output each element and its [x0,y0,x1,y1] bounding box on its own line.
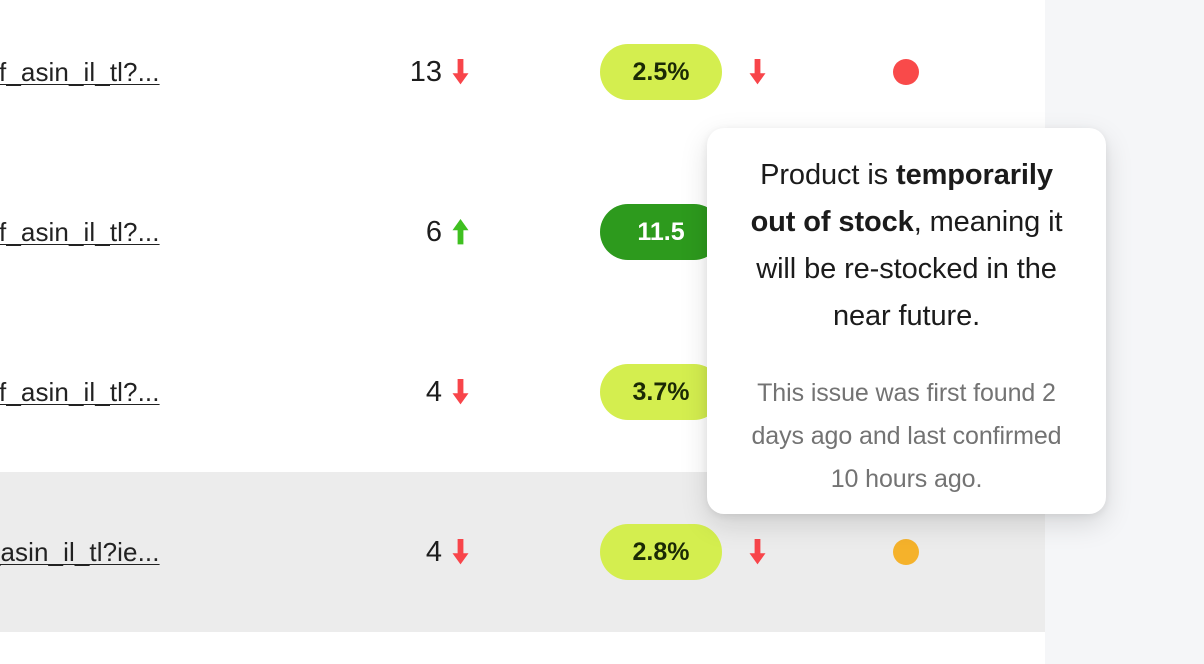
product-link[interactable]: qf_asin_il_tl?ie... [0,537,160,568]
percentage-badge: 11.5 [600,204,722,260]
tooltip-secondary-text: This issue was first found 2 days ago an… [739,372,1074,501]
arrow-down-icon [451,379,470,405]
product-name-cell: i_qf_asin_il_tl?... [0,152,324,312]
count-value: 13 [410,58,442,87]
status-dot-orange-icon[interactable] [893,539,919,565]
status-dot-red-icon[interactable] [893,59,919,85]
count-value: 6 [426,218,442,247]
percentage-badge: 2.8% [600,524,722,580]
arrow-down-icon [748,59,767,85]
product-name-cell: i_qf_asin_il_tl?... [0,0,324,152]
product-name-cell: qf_asin_il_tl?ie... [0,472,324,632]
arrow-down-icon [748,539,767,565]
product-link[interactable]: i_qf_asin_il_tl?... [0,377,160,408]
percentage-badge: 2.5% [600,44,722,100]
arrow-down-icon [451,539,470,565]
count-value: 4 [426,538,442,567]
tooltip-primary-text: Product is temporarily out of stock, mea… [739,152,1074,340]
product-name-cell: i_qf_asin_il_tl?... [0,312,324,472]
count-cell: 4 [360,472,500,632]
arrow-up-icon [451,219,470,245]
product-link[interactable]: i_qf_asin_il_tl?... [0,57,160,88]
status-tooltip: Product is temporarily out of stock, mea… [707,128,1106,514]
page-background: i_qf_asin_il_tl?... 13 2.5% i_qf_asin [0,0,1204,664]
percentage-badge: 3.7% [600,364,722,420]
count-cell: 6 [360,152,500,312]
tooltip-primary-before: Product is [760,159,896,191]
product-link[interactable]: i_qf_asin_il_tl?... [0,217,160,248]
arrow-down-icon [451,59,470,85]
count-cell: 13 [360,0,500,152]
count-cell: 4 [360,312,500,472]
count-value: 4 [426,378,442,407]
